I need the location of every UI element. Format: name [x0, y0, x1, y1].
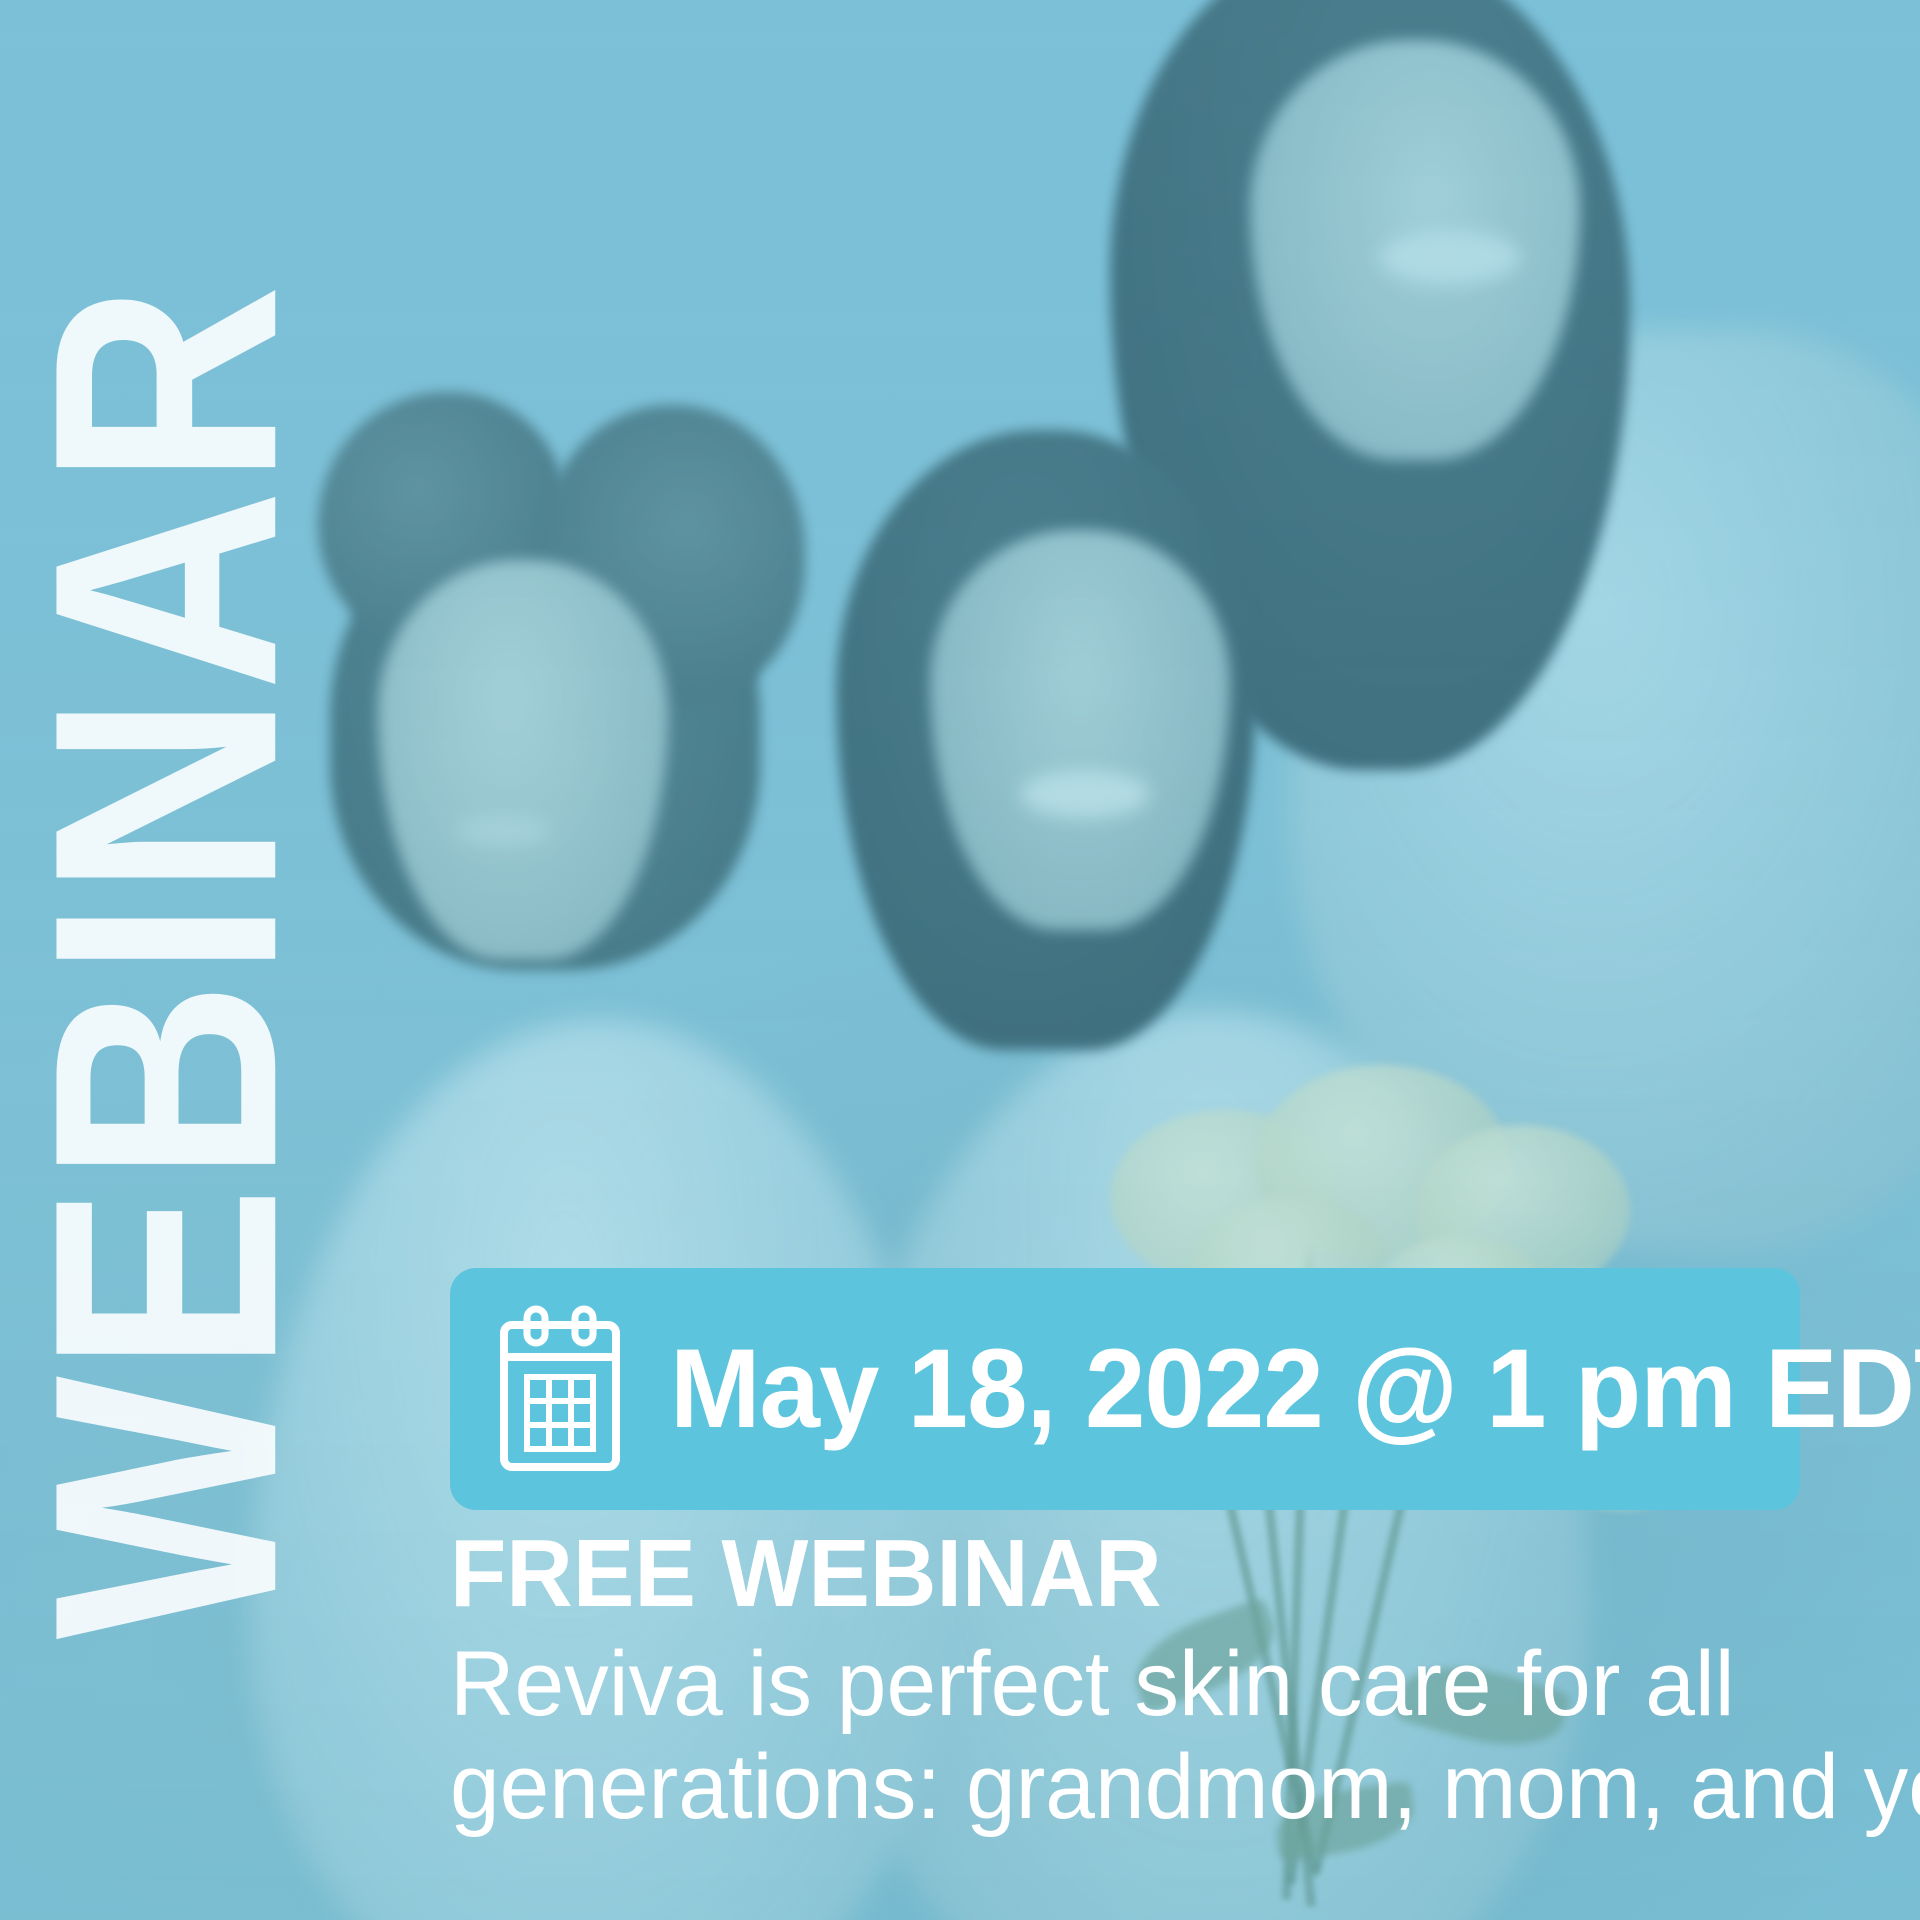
body-copy-line-1: Reviva is perfect skin care for all — [450, 1633, 1847, 1736]
copy-block: FREE WEBINAR Reviva is perfect skin care… — [450, 1524, 1890, 1839]
date-banner-text: May 18, 2022 @ 1 pm EDT — [670, 1333, 1920, 1445]
body-copy: Reviva is perfect skin care for all gene… — [450, 1633, 1847, 1839]
body-copy-line-2: generations: grandmom, mom, and you! — [450, 1736, 1847, 1839]
webinar-promo-poster: WEBINAR May 18, 2022 @ 1 pm EDT FREE WEB… — [0, 0, 1920, 1920]
kicker-heading: FREE WEBINAR — [450, 1524, 1832, 1625]
date-banner: May 18, 2022 @ 1 pm EDT — [450, 1268, 1800, 1510]
calendar-icon — [494, 1305, 626, 1473]
